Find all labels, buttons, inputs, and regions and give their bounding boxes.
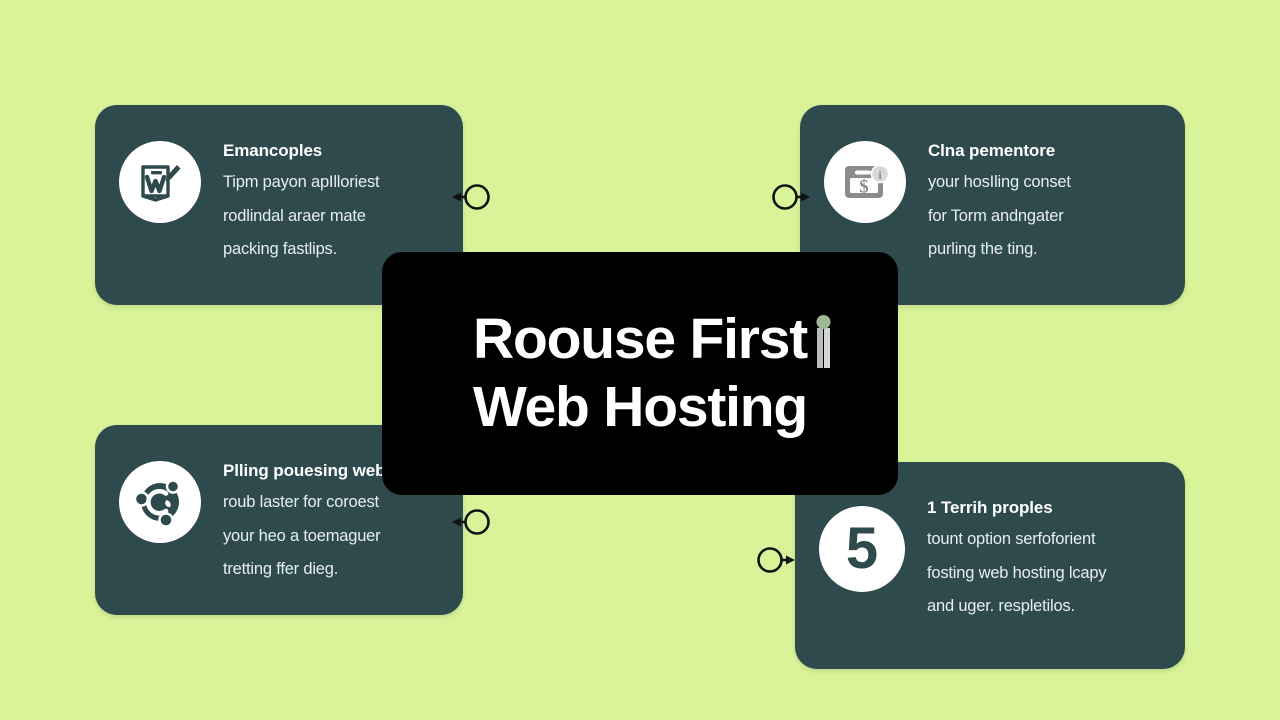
page-title-line-1: Roouse First [473,309,807,371]
card-line: roub laster for coroest [223,494,437,511]
connector-top-left[interactable] [452,180,492,214]
card-line: rodlindal araer mate [223,208,437,225]
card-line: your heo a toemaguer [223,528,437,545]
map-pin-icon [813,314,835,370]
card-line: Tipm payon apIlloriest [223,174,437,191]
connector-bottom-right[interactable] [755,543,795,577]
card-text-block: Emancoples Tipm payon apIlloriest rodlin… [223,139,437,258]
arrow-right-node-icon [774,186,811,209]
arrow-left-node-icon [452,511,489,534]
svg-text:$: $ [859,177,869,198]
connector-top-right[interactable] [770,180,810,214]
card-heading: Clna pementore [928,141,1159,161]
number-badge: 5 [819,506,905,592]
card-line: purling the ting. [928,241,1159,258]
card-line: tretting ffer dieg. [223,561,437,578]
card-line: for Torm andngater [928,208,1159,225]
card-text-block: 1 Terrih proples tount option serfoforie… [927,496,1159,615]
card-heading: Emancoples [223,141,437,161]
arrow-left-node-icon [452,186,489,209]
title-plaque: Roouse First Web Hosting [382,252,898,495]
card-line: tount option serfoforient [927,531,1159,548]
card-line: your hosIling conset [928,174,1159,191]
arrow-right-node-icon [759,549,796,572]
infographic-canvas: Emancoples Tipm payon apIlloriest rodlin… [0,0,1280,720]
notepad-pencil-icon [119,141,201,223]
connector-bottom-left[interactable] [452,505,492,539]
browser-dollar-info-icon: $ i [824,141,906,223]
card-heading: 1 Terrih proples [927,498,1159,518]
card-line: and uger. respletilos. [927,598,1159,615]
card-text-block: Clna pementore your hosIling conset for … [928,139,1159,258]
page-title-line-2: Web Hosting [473,377,807,439]
network-nodes-icon [119,461,201,543]
page-title-line-1-text: Roouse First [473,307,807,371]
card-line: fosting web hosting lcapy [927,565,1159,582]
